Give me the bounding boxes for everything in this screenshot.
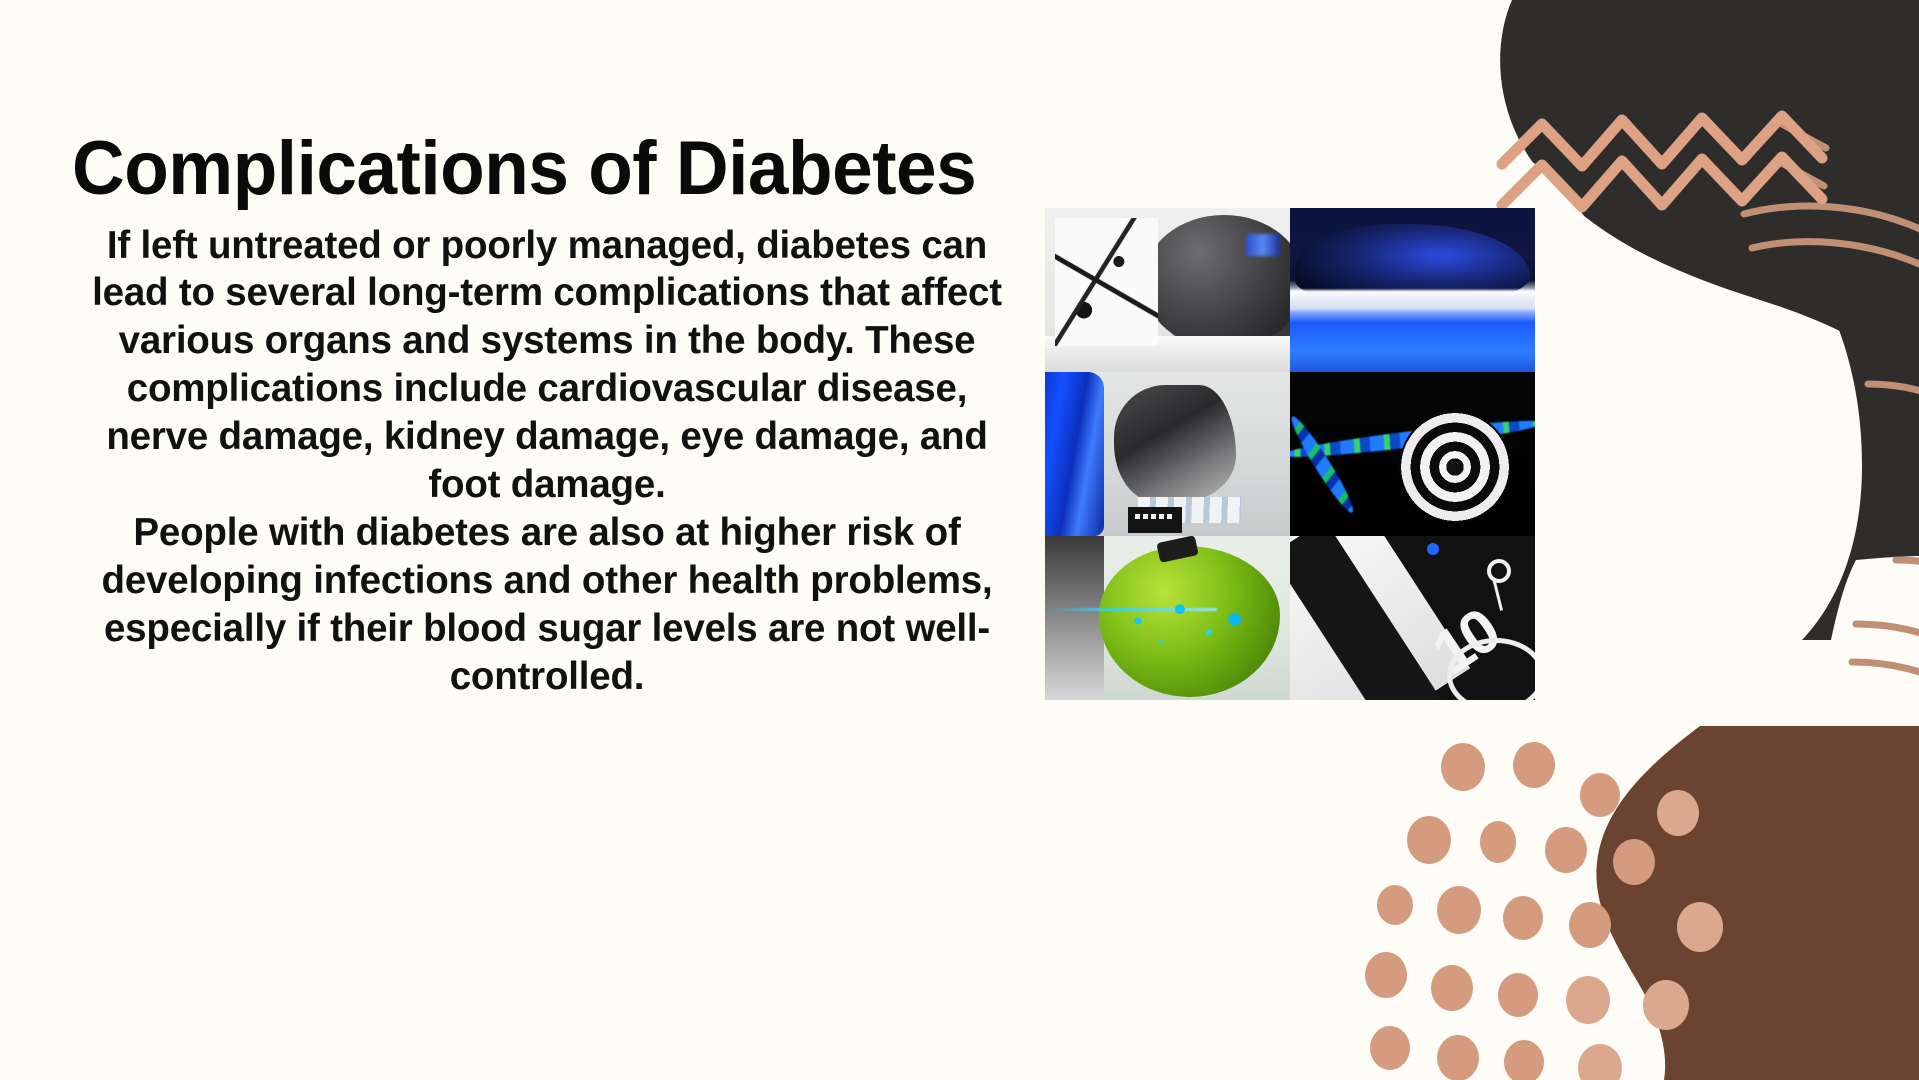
photo-green-apple-splash (1045, 536, 1290, 700)
concentric-target-icon (1399, 411, 1511, 523)
grey-background-strip (1045, 536, 1104, 700)
page-title: Complications of Diabetes (72, 130, 984, 208)
zigzag-line-upper (1502, 116, 1822, 166)
photo-blue-bottle-and-arm (1045, 372, 1290, 536)
pin-marker-icon (1487, 559, 1511, 583)
cyan-splash-droplets (1109, 592, 1271, 664)
arc-tick-marks (1780, 124, 1826, 186)
black-label-tag (1128, 507, 1182, 533)
shelf-surface (1045, 336, 1290, 372)
white-notch-lower (1797, 556, 1919, 1080)
brown-blob-bottom-right-shape (1596, 726, 1919, 1080)
photo-blue-running-shoe (1290, 208, 1535, 372)
body-paragraph-1: If left untreated or poorly managed, dia… (72, 222, 1022, 510)
water-bottle-shape (1045, 372, 1104, 536)
dark-blob-top-right-shape (1500, 0, 1919, 392)
presentation-slide: Complications of Diabetes If left untrea… (0, 0, 1919, 1080)
dot-grid-bottom-right (1365, 742, 1723, 1080)
shoe-sole (1290, 290, 1535, 310)
blue-glint (1246, 234, 1280, 256)
photo-printed-chart: 10 (1290, 536, 1535, 700)
photo-beaded-trace-target (1290, 372, 1535, 536)
body-paragraph-2: People with diabetes are also at higher … (72, 509, 1022, 701)
body-text-block: If left untreated or poorly managed, dia… (72, 222, 1022, 701)
beaded-trace-line-secondary (1290, 413, 1358, 516)
text-column: Complications of Diabetes If left untrea… (72, 130, 1022, 701)
concentric-arcs-right (1744, 206, 1919, 774)
arm-shape (1114, 385, 1237, 503)
photo-collage: 10 (1045, 208, 1535, 700)
photo-grey-ball-on-shelf (1045, 208, 1290, 372)
dark-blob-lower-extension (1640, 150, 1919, 640)
zigzag-line-lower (1502, 157, 1822, 207)
blue-dot-marker (1427, 543, 1439, 555)
